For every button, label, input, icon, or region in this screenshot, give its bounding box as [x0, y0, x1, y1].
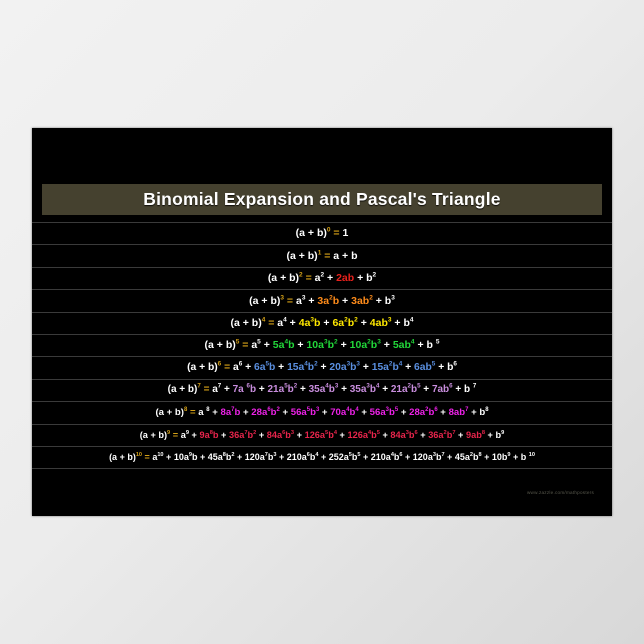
term-exponent: 6	[453, 360, 457, 367]
equation-term: a4	[277, 317, 286, 329]
equation-term: 3ab2	[351, 295, 373, 307]
plus-sign: +	[415, 339, 427, 351]
equation-term: 10a2b3	[350, 339, 381, 351]
equation-term: 9a8b	[199, 430, 218, 440]
equation-term: b 5	[427, 339, 440, 351]
equation-term: 5ab4	[393, 339, 415, 351]
plus-sign: +	[221, 384, 232, 395]
equation-term: 45a8b2	[208, 452, 235, 462]
term-exponent: 7	[231, 407, 234, 413]
equation-term: b3	[385, 295, 395, 307]
plus-sign: +	[445, 452, 455, 462]
binomial-equation: (a + b)9 = a9 + 9a8b + 36a7b2 + 84a6b3 +…	[140, 431, 505, 440]
equation-term: 6ab5	[414, 362, 435, 373]
equation-term: a10	[152, 452, 163, 462]
plus-sign: +	[219, 430, 229, 440]
watermark-text: www.zazzle.com/mathposters	[527, 490, 594, 495]
equation-term: 84a6b3	[267, 430, 294, 440]
plus-sign: +	[418, 430, 428, 440]
plus-sign: +	[339, 295, 351, 307]
plus-sign: +	[295, 339, 307, 351]
plus-sign: +	[510, 452, 520, 462]
equation-lhs: (a + b)2	[268, 272, 303, 284]
equation-term: a 8	[198, 407, 209, 418]
term-exponent: 3	[391, 294, 395, 301]
term-exponent: 3	[386, 407, 389, 413]
term-exponent: 5	[265, 360, 269, 367]
plus-sign: +	[379, 384, 390, 395]
term-exponent: 9	[501, 430, 504, 436]
term-exponent: 5	[436, 339, 440, 346]
term-exponent: 2	[367, 339, 371, 346]
plus-sign: +	[354, 272, 366, 284]
equation-term: 28a6b2	[251, 407, 280, 418]
plus-sign: +	[256, 384, 267, 395]
term-exponent: 9	[189, 452, 192, 458]
equals-sign: =	[201, 384, 212, 395]
equals-sign: =	[265, 317, 277, 329]
plus-sign: +	[261, 339, 273, 351]
equation-term: 10b9	[492, 452, 511, 462]
equation-term: 36a2b7	[428, 430, 455, 440]
equation-row: (a + b)1 = a + b	[32, 245, 612, 267]
plus-sign: +	[319, 407, 330, 418]
equation-term: 126a5b4	[305, 430, 337, 440]
term-exponent: 5	[349, 452, 352, 458]
term-exponent: 6	[247, 383, 250, 390]
plus-sign: +	[360, 362, 372, 373]
equation-term: 20a3b3	[329, 362, 360, 373]
equation-term: 8a7b	[221, 407, 241, 418]
equation-term: 252a5b5	[329, 452, 361, 462]
term-exponent: 5	[325, 430, 328, 436]
poster-title-bar: Binomial Expansion and Pascal's Triangle	[42, 184, 602, 215]
equation-term: 35a4b3	[309, 384, 339, 395]
plus-sign: +	[280, 407, 291, 418]
term-exponent: 5	[307, 407, 310, 413]
term-exponent: 2	[344, 317, 348, 324]
term-exponent: 6	[307, 452, 310, 458]
equation-term: a9	[181, 430, 189, 440]
equation-term: 56a3b5	[370, 407, 399, 418]
equation-term: 120a7b3	[245, 452, 277, 462]
equation-term: 8ab7	[449, 407, 469, 418]
equation-row: (a + b)7 = a7 + 7a 6b + 21a5b2 + 35a4b3 …	[32, 380, 612, 402]
page-title: Binomial Expansion and Pascal's Triangle	[143, 189, 500, 210]
plus-sign: +	[337, 430, 347, 440]
plus-sign: +	[381, 339, 393, 351]
equation-row: (a + b)4 = a4 + 4a3b + 6a2b2 + 4ab3 + b4	[32, 313, 612, 335]
term-exponent: 8	[210, 430, 213, 436]
term-exponent: 7	[473, 383, 476, 390]
equation-term: b 7	[464, 384, 476, 395]
plus-sign: +	[319, 452, 329, 462]
equation-term: 2ab	[336, 272, 354, 284]
equation-term: 56a5b3	[291, 407, 320, 418]
binomial-equation: (a + b)5 = a5 + 5a4b + 10a3b2 + 10a2b3 +…	[205, 340, 440, 351]
plus-sign: +	[240, 407, 251, 418]
equation-lhs: (a + b)1	[286, 250, 321, 262]
equation-term: 210a6b4	[287, 452, 319, 462]
plus-sign: +	[482, 452, 492, 462]
plus-sign: +	[402, 362, 414, 373]
term-exponent: 2	[408, 383, 411, 390]
plus-sign: +	[189, 430, 199, 440]
term-exponent: 4	[284, 339, 288, 346]
equation-term: 9ab8	[466, 430, 485, 440]
plus-sign: +	[210, 407, 221, 418]
plus-sign: +	[391, 317, 403, 329]
plus-sign: +	[438, 407, 449, 418]
equation-term: 15a2b4	[372, 362, 403, 373]
term-exponent: 4	[368, 430, 371, 436]
term-exponent: 2	[389, 360, 393, 367]
term-exponent: 6	[282, 430, 285, 436]
poster-canvas: Binomial Expansion and Pascal's Triangle…	[32, 128, 612, 516]
plus-sign: +	[398, 407, 409, 418]
plus-sign: +	[164, 452, 174, 462]
equation-term: 36a7b2	[229, 430, 256, 440]
term-exponent: 4	[410, 317, 414, 324]
equation-term: b	[351, 250, 357, 262]
plus-sign: +	[276, 452, 286, 462]
equation-lhs: (a + b)7	[168, 384, 201, 395]
equals-sign: =	[170, 430, 180, 440]
plus-sign: +	[305, 295, 317, 307]
equation-term: 21a5b2	[268, 384, 298, 395]
plus-sign: +	[453, 384, 464, 395]
equation-term: b 10	[521, 452, 535, 462]
plus-sign: +	[338, 339, 350, 351]
term-exponent: 3	[347, 360, 351, 367]
term-exponent: 3	[433, 452, 436, 458]
term-exponent: 8	[485, 407, 488, 413]
equation-term: b8	[479, 407, 488, 418]
equation-term: a6	[233, 362, 242, 373]
equation-lhs: (a + b)4	[230, 317, 265, 329]
equation-lhs: (a + b)9	[140, 430, 170, 440]
equation-term: 7a 6b	[233, 384, 256, 395]
equation-term: 126a4b5	[347, 430, 379, 440]
equation-term: a7	[212, 384, 221, 395]
binomial-equation: (a + b)8 = a 8 + 8a7b + 28a6b2 + 56a5b3 …	[155, 408, 488, 418]
equation-term: b4	[403, 317, 413, 329]
equation-term: a5	[251, 339, 260, 351]
equation-term: 120a3b7	[413, 452, 445, 462]
plus-sign: +	[294, 430, 304, 440]
plus-sign: +	[359, 407, 370, 418]
equation-term: 6a2b2	[332, 317, 357, 329]
binomial-equation: (a + b)7 = a7 + 7a 6b + 21a5b2 + 35a4b3 …	[168, 385, 477, 395]
equation-row: (a + b)10 = a10 + 10a9b + 45a8b2 + 120a7…	[32, 447, 612, 469]
equation-term: 4a3b	[299, 317, 321, 329]
plus-sign: +	[324, 272, 336, 284]
plus-sign: +	[256, 430, 266, 440]
equation-row: (a + b)0 = 1	[32, 222, 612, 245]
plus-sign: +	[403, 452, 413, 462]
binomial-equation: (a + b)3 = a3 + 3a2b + 3ab2 + b3	[249, 296, 395, 307]
term-exponent: 5	[284, 383, 287, 390]
binomial-equation: (a + b)2 = a2 + 2ab + b2	[268, 273, 376, 284]
equation-term: 5a4b	[273, 339, 295, 351]
binomial-equation: (a + b)6 = a6 + 6a5b + 15a4b2 + 20a3b3 +…	[187, 363, 457, 373]
term-exponent: 2	[425, 407, 428, 413]
term-exponent: 8	[223, 452, 226, 458]
plus-sign: +	[318, 362, 330, 373]
plus-sign: +	[435, 362, 447, 373]
equation-term: 70a4b4	[330, 407, 359, 418]
equation-lhs: (a + b)3	[249, 295, 284, 307]
equation-term: b6	[447, 362, 457, 373]
plus-sign: +	[297, 384, 308, 395]
equation-term: b2	[366, 272, 376, 284]
term-exponent: 3	[406, 430, 409, 436]
equation-row: (a + b)8 = a 8 + 8a7b + 28a6b2 + 56a5b3 …	[32, 402, 612, 424]
binomial-equation: (a + b)10 = a10 + 10a9b + 45a8b2 + 120a7…	[109, 453, 535, 462]
term-exponent: 2	[444, 430, 447, 436]
equation-term: 35a3b4	[350, 384, 380, 395]
equation-list: (a + b)0 = 1(a + b)1 = a + b(a + b)2 = a…	[32, 222, 612, 469]
equation-term: 4ab3	[370, 317, 392, 329]
term-exponent: 4	[304, 360, 308, 367]
plus-sign: +	[242, 362, 254, 373]
plus-sign: +	[373, 295, 385, 307]
binomial-equation: (a + b)0 = 1	[296, 228, 349, 239]
equals-sign: =	[284, 295, 296, 307]
term-exponent: 3	[324, 339, 328, 346]
term-exponent: 4	[325, 383, 328, 390]
equation-term: 1	[342, 227, 348, 239]
plus-sign: +	[275, 362, 287, 373]
plus-sign: +	[338, 384, 349, 395]
equation-term: 10a3b2	[306, 339, 337, 351]
equation-row: (a + b)5 = a5 + 5a4b + 10a3b2 + 10a2b3 +…	[32, 335, 612, 357]
plus-sign: +	[197, 452, 207, 462]
equation-term: 84a3b6	[390, 430, 417, 440]
plus-sign: +	[358, 317, 370, 329]
plus-sign: +	[287, 317, 299, 329]
plus-sign: +	[468, 407, 479, 418]
equals-sign: =	[221, 362, 233, 373]
equation-term: a2	[315, 272, 324, 284]
equation-row: (a + b)2 = a2 + 2ab + b2	[32, 268, 612, 290]
equation-lhs: (a + b)10	[109, 452, 142, 462]
term-exponent: 3	[310, 317, 314, 324]
equation-term: 10a9b	[174, 452, 198, 462]
equation-lhs: (a + b)5	[205, 339, 240, 351]
term-exponent: 2	[470, 452, 473, 458]
term-exponent: 10	[529, 452, 535, 458]
plus-sign: +	[234, 452, 244, 462]
term-exponent: 2	[373, 272, 377, 279]
equation-row: (a + b)3 = a3 + 3a2b + 3ab2 + b3	[32, 290, 612, 312]
equation-term: 28a2b6	[409, 407, 438, 418]
equation-term: 45a2b8	[455, 452, 482, 462]
plus-sign: +	[320, 317, 332, 329]
term-exponent: 4	[391, 452, 394, 458]
equation-lhs: (a + b)6	[187, 362, 221, 373]
term-exponent: 4	[346, 407, 349, 413]
equation-lhs: (a + b)0	[296, 227, 331, 239]
plus-sign: +	[339, 250, 351, 262]
equation-row: (a + b)9 = a9 + 9a8b + 36a7b2 + 84a6b3 +…	[32, 425, 612, 447]
binomial-equation: (a + b)4 = a4 + 4a3b + 6a2b2 + 4ab3 + b4	[230, 318, 413, 329]
equals-sign: =	[303, 272, 315, 284]
poster-mat: Binomial Expansion and Pascal's Triangle…	[0, 0, 644, 644]
term-exponent: 7	[244, 430, 247, 436]
plus-sign: +	[421, 384, 432, 395]
equation-row: (a + b)6 = a6 + 6a5b + 15a4b2 + 20a3b3 +…	[32, 357, 612, 379]
term-exponent: 6	[267, 407, 270, 413]
equals-sign: =	[187, 407, 198, 418]
plus-sign: +	[456, 430, 466, 440]
term-exponent: 7	[265, 452, 268, 458]
term-exponent: 3	[366, 383, 369, 390]
binomial-equation: (a + b)1 = a + b	[286, 251, 357, 262]
equals-sign: =	[142, 452, 152, 462]
equation-term: 7ab6	[432, 384, 453, 395]
equation-term: b9	[495, 430, 504, 440]
equation-term: 6a5b	[254, 362, 275, 373]
plus-sign: +	[380, 430, 390, 440]
equals-sign: =	[321, 250, 333, 262]
term-exponent: 2	[329, 294, 333, 301]
equals-sign: =	[239, 339, 251, 351]
equation-term: 15a4b2	[287, 362, 318, 373]
plus-sign: +	[485, 430, 495, 440]
equation-term: 21a2b5	[391, 384, 421, 395]
equation-lhs: (a + b)8	[155, 407, 187, 418]
equation-term: 3a2b	[317, 295, 339, 307]
plus-sign: +	[361, 452, 371, 462]
equation-term: 210a4b6	[371, 452, 403, 462]
equals-sign: =	[331, 227, 343, 239]
